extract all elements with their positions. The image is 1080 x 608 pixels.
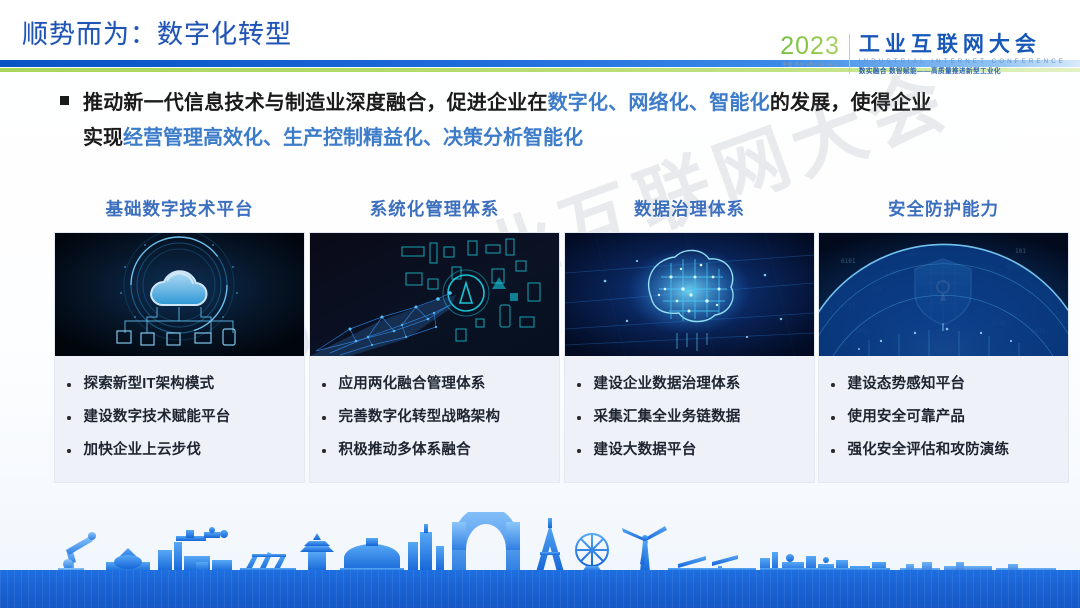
- logo-chinese-name: 工业互联网大会: [859, 33, 1066, 56]
- list-item-label: 探索新型IT架构模式: [84, 374, 215, 394]
- list-item-label: 采集汇集全业务链数据: [594, 407, 741, 427]
- list-item: 采集汇集全业务链数据: [577, 407, 814, 427]
- bottom-decoration: [0, 516, 1080, 608]
- svg-text:101: 101: [1015, 248, 1026, 255]
- logo-year-block: 2023 中国·苏州 8月14日-16日: [780, 33, 849, 68]
- conference-logo: 2023 中国·苏州 8月14日-16日 工业互联网大会 INDUSTRIAL …: [780, 33, 1066, 77]
- bullet-dot-icon: [577, 383, 581, 387]
- lead-text-a: 推动新一代信息技术与制造业深度融合，促进企业在: [83, 92, 548, 114]
- cards-row: 基础数字技术平台: [0, 196, 1080, 506]
- list-item: 探索新型IT架构模式: [67, 374, 304, 394]
- list-item-label: 建设态势感知平台: [848, 374, 966, 394]
- logo-year: 2023: [780, 33, 840, 59]
- list-item: 建设数字技术赋能平台: [67, 407, 304, 427]
- list-item: 建设大数据平台: [577, 440, 814, 460]
- logo-year-subtitle: 中国·苏州 8月14日-16日: [782, 61, 837, 68]
- logo-text-block: 工业互联网大会 INDUSTRIAL INTERNET CONFERENCE 数…: [850, 33, 1066, 76]
- list-item: 建设态势感知平台: [831, 374, 1068, 394]
- bullet-dot-icon: [67, 416, 71, 420]
- list-item-label: 强化安全评估和攻防演练: [848, 440, 1010, 460]
- list-item-label: 使用安全可靠产品: [848, 407, 966, 427]
- list-item-label: 建设企业数据治理体系: [594, 374, 741, 394]
- bullet-dot-icon: [322, 383, 326, 387]
- list-item-label: 积极推动多体系融合: [339, 440, 471, 460]
- card-title: 基础数字技术平台: [55, 196, 304, 221]
- lead-highlight-1: 数字化、网络化、智能化: [548, 92, 770, 114]
- lead-line-1: 推动新一代信息技术与制造业深度融合，促进企业在数字化、网络化、智能化的发展，使得…: [83, 86, 931, 121]
- lead-line-2: 实现经营管理高效化、生产控制精益化、决策分析智能化: [83, 121, 1050, 156]
- bullet-dot-icon: [831, 449, 835, 453]
- slide: 顺势而为：数字化转型 2023 中国·苏州 8月14日-16日 工业互联网大会 …: [0, 0, 1080, 608]
- bullet-dot-icon: [577, 416, 581, 420]
- lead-paragraph: 推动新一代信息技术与制造业深度融合，促进企业在数字化、网络化、智能化的发展，使得…: [60, 86, 1050, 156]
- list-item: 积极推动多体系融合: [322, 440, 559, 460]
- bullet-dot-icon: [322, 416, 326, 420]
- list-item-label: 加快企业上云步伐: [84, 440, 202, 460]
- card-title: 安全防护能力: [819, 196, 1068, 221]
- card-body: 0101(+)((•)) 11010110(•) 10100011</> 101…: [819, 233, 1068, 482]
- card-bullet-list: 探索新型IT架构模式 建设数字技术赋能平台 加快企业上云步伐: [55, 356, 304, 482]
- list-item-label: 建设数字技术赋能平台: [84, 407, 231, 427]
- list-item: 加快企业上云步伐: [67, 440, 304, 460]
- digital-hand-interface-image: [310, 233, 559, 356]
- list-item-label: 完善数字化转型战略架构: [339, 407, 501, 427]
- card-data-governance: 数据治理体系: [565, 196, 814, 482]
- bullet-dot-icon: [831, 416, 835, 420]
- list-item: 建设企业数据治理体系: [577, 374, 814, 394]
- bullet-dot-icon: [67, 383, 71, 387]
- card-body: 应用两化融合管理体系 完善数字化转型战略架构 积极推动多体系融合: [310, 233, 559, 482]
- card-security-capability: 安全防护能力: [819, 196, 1068, 482]
- digital-brain-image: [565, 233, 814, 356]
- bullet-dot-icon: [831, 383, 835, 387]
- page-title: 顺势而为：数字化转型: [22, 14, 292, 51]
- card-title: 数据治理体系: [565, 196, 814, 221]
- card-bullet-list: 建设企业数据治理体系 采集汇集全业务链数据 建设大数据平台: [565, 356, 814, 482]
- card-management-system: 系统化管理体系: [310, 196, 559, 482]
- card-bullet-list: 建设态势感知平台 使用安全可靠产品 强化安全评估和攻防演练: [819, 356, 1068, 482]
- card-title: 系统化管理体系: [310, 196, 559, 221]
- lead-line2-prefix: 实现: [83, 127, 123, 149]
- bottom-blue-band: [0, 570, 1080, 608]
- logo-tagline: 数实融合 数智赋能——高质量推进新型工业化: [859, 67, 1066, 76]
- bullet-dot-icon: [577, 449, 581, 453]
- list-item: 使用安全可靠产品: [831, 407, 1068, 427]
- list-item: 完善数字化转型战略架构: [322, 407, 559, 427]
- list-item-label: 应用两化融合管理体系: [339, 374, 486, 394]
- card-foundation-platform: 基础数字技术平台: [55, 196, 304, 482]
- svg-text:0101: 0101: [841, 258, 856, 265]
- security-shield-globe-image: 0101(+)((•)) 11010110(•) 10100011</> 101…: [819, 233, 1068, 356]
- city-skyline-icon: [0, 512, 1080, 574]
- card-body: 建设企业数据治理体系 采集汇集全业务链数据 建设大数据平台: [565, 233, 814, 482]
- card-bullet-list: 应用两化融合管理体系 完善数字化转型战略架构 积极推动多体系融合: [310, 356, 559, 482]
- logo-english-name: INDUSTRIAL INTERNET CONFERENCE: [859, 57, 1066, 66]
- cloud-computing-image: [55, 233, 304, 356]
- bullet-marker-icon: [60, 96, 69, 105]
- bullet-dot-icon: [67, 449, 71, 453]
- list-item: 强化安全评估和攻防演练: [831, 440, 1068, 460]
- lead-highlight-2: 经营管理高效化、生产控制精益化、决策分析智能化: [123, 127, 583, 149]
- list-item-label: 建设大数据平台: [594, 440, 697, 460]
- list-item: 应用两化融合管理体系: [322, 374, 559, 394]
- card-body: 探索新型IT架构模式 建设数字技术赋能平台 加快企业上云步伐: [55, 233, 304, 482]
- bullet-dot-icon: [322, 449, 326, 453]
- lead-text-b: 的发展，使得企业: [770, 92, 932, 114]
